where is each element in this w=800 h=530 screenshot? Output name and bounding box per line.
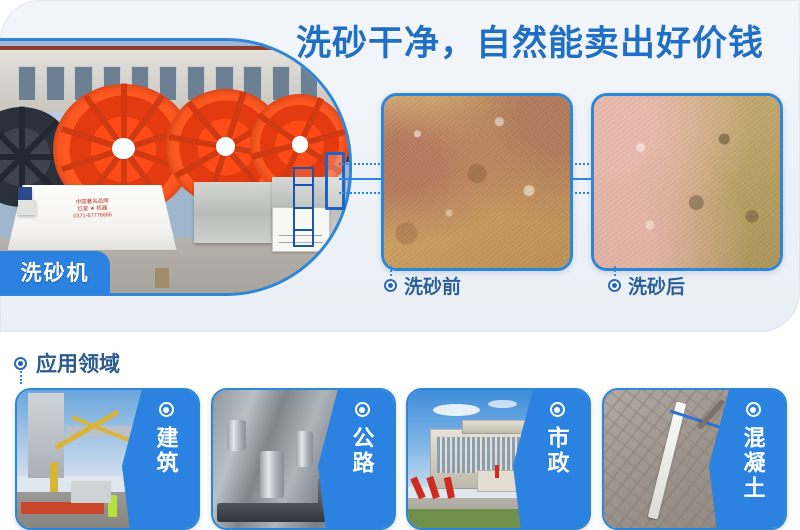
bullet-icon [14, 357, 27, 370]
connector-dotline-bottom [339, 192, 383, 194]
application-label: 建筑 [154, 426, 177, 476]
application-label: 混凝土 [741, 426, 764, 501]
connector-solidline [339, 178, 383, 180]
application-card-municipal[interactable]: 市政 [406, 388, 591, 530]
machine-name-badge: 洗砂机 [0, 251, 110, 293]
caption-before-label: 洗砂前 [404, 272, 461, 299]
bullet-icon [355, 402, 370, 417]
sample-photo-before [381, 93, 573, 271]
hopper-body: 中国著名品牌 红星 ★ 机器 0371-67776666 [8, 185, 177, 251]
connector-dotline-top [339, 163, 383, 165]
bullet-icon [608, 279, 621, 292]
connector-bar [325, 152, 345, 210]
sample-photo-after [591, 93, 783, 271]
caption-after: 洗砂后 [608, 272, 685, 299]
bullet-icon [550, 402, 565, 417]
application-label: 公路 [350, 426, 373, 476]
application-label: 市政 [545, 426, 568, 476]
page-title: 洗砂干净，自然能卖出好价钱 [296, 15, 764, 66]
bullet-icon [746, 402, 761, 417]
bullet-icon [159, 402, 174, 417]
application-card-highway[interactable]: 公路 [211, 388, 396, 530]
application-card-construction[interactable]: 建筑 [15, 388, 200, 530]
caption-before: 洗砂前 [384, 272, 461, 299]
caption-after-label: 洗砂后 [628, 272, 685, 299]
application-card-concrete[interactable]: 混凝土 [602, 388, 787, 530]
section-heading: 应用领域 [14, 348, 120, 378]
section-heading-label: 应用领域 [36, 348, 120, 378]
bullet-icon [384, 279, 397, 292]
